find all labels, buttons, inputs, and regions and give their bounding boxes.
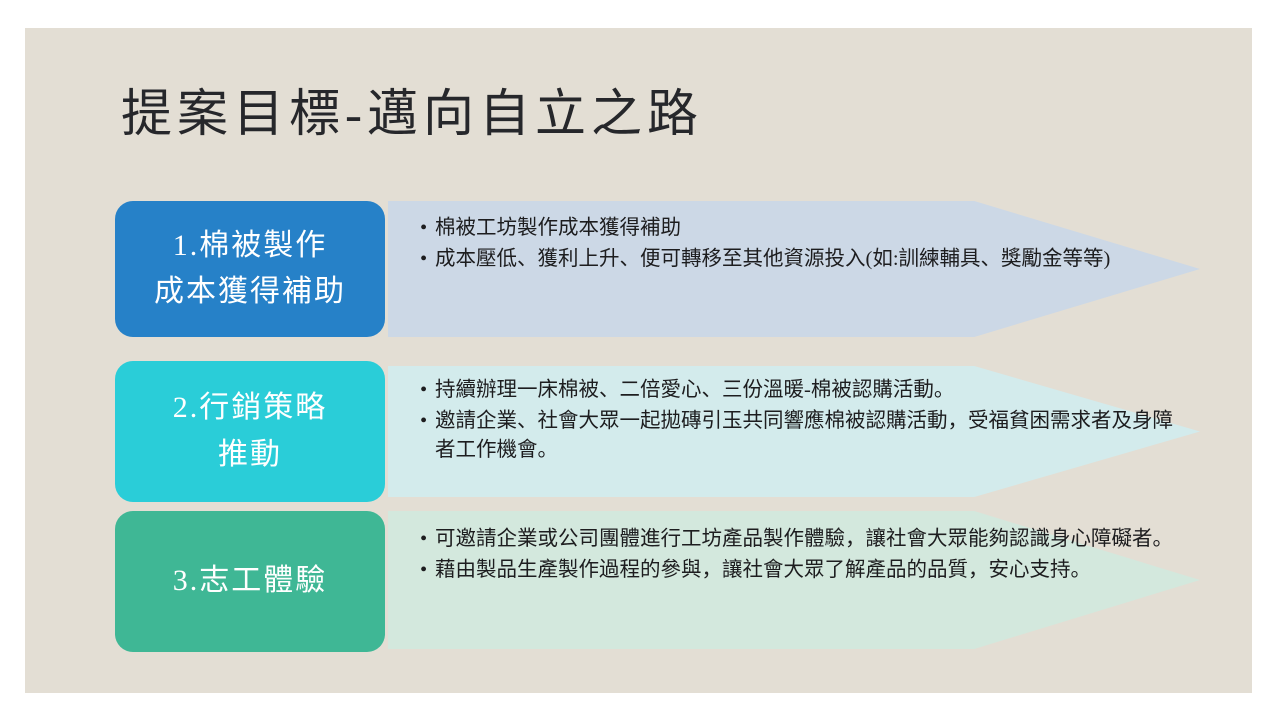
- goal-label-3-line-1: 3.志工體驗: [173, 558, 328, 605]
- list-item: • 棉被工坊製作成本獲得補助: [420, 214, 1180, 243]
- goal-bullets-1: • 棉被工坊製作成本獲得補助 • 成本壓低、獲利上升、便可轉移至其他資源投入(如…: [420, 214, 1180, 276]
- goal-label-2-line-2: 推動: [218, 432, 282, 479]
- bullet-dot-icon: •: [420, 214, 427, 243]
- list-item: • 成本壓低、獲利上升、便可轉移至其他資源投入(如:訓練輔具、獎勵金等等): [420, 245, 1180, 274]
- goal-label-2-line-1: 2.行銷策略: [173, 385, 328, 432]
- list-item-text: 成本壓低、獲利上升、便可轉移至其他資源投入(如:訓練輔具、獎勵金等等): [435, 248, 1110, 270]
- goal-label-box-1[interactable]: 1.棉被製作 成本獲得補助: [115, 201, 385, 337]
- goal-label-box-2[interactable]: 2.行銷策略 推動: [115, 361, 385, 502]
- list-item: • 持續辦理一床棉被、二倍愛心、三份溫暖-棉被認購活動。: [420, 376, 1180, 405]
- list-item: • 可邀請企業或公司團體進行工坊產品製作體驗，讓社會大眾能夠認識身心障礙者。: [420, 525, 1180, 554]
- page-title: 提案目標-邁向自立之路: [121, 86, 1171, 145]
- list-item-text: 持續辦理一床棉被、二倍愛心、三份溫暖-棉被認購活動。: [435, 379, 954, 401]
- bullet-dot-icon: •: [420, 556, 427, 585]
- list-item-text: 藉由製品生產製作過程的參與，讓社會大眾了解產品的品質，安心支持。: [435, 559, 1091, 581]
- list-item: • 邀請企業、社會大眾一起拋磚引玉共同響應棉被認購活動，受福貧困需求者及身障者工…: [420, 407, 1180, 465]
- bullet-dot-icon: •: [420, 245, 427, 274]
- list-item-text: 邀請企業、社會大眾一起拋磚引玉共同響應棉被認購活動，受福貧困需求者及身障者工作機…: [435, 410, 1173, 461]
- bullet-dot-icon: •: [420, 376, 427, 405]
- goal-label-1-line-1: 1.棉被製作: [173, 223, 328, 270]
- slide-canvas: 提案目標-邁向自立之路 1.棉被製作 成本獲得補助 • 棉被工坊製作成本獲得補助…: [25, 28, 1252, 693]
- bullet-dot-icon: •: [420, 407, 427, 436]
- goal-label-box-3[interactable]: 3.志工體驗: [115, 511, 385, 652]
- goal-bullets-3: • 可邀請企業或公司團體進行工坊產品製作體驗，讓社會大眾能夠認識身心障礙者。 •…: [420, 525, 1180, 587]
- goal-bullets-2: • 持續辦理一床棉被、二倍愛心、三份溫暖-棉被認購活動。 • 邀請企業、社會大眾…: [420, 376, 1180, 467]
- list-item-text: 可邀請企業或公司團體進行工坊產品製作體驗，讓社會大眾能夠認識身心障礙者。: [435, 528, 1173, 550]
- list-item: • 藉由製品生產製作過程的參與，讓社會大眾了解產品的品質，安心支持。: [420, 556, 1180, 585]
- list-item-text: 棉被工坊製作成本獲得補助: [435, 217, 681, 239]
- goal-label-1-line-2: 成本獲得補助: [154, 269, 346, 316]
- bullet-dot-icon: •: [420, 525, 427, 554]
